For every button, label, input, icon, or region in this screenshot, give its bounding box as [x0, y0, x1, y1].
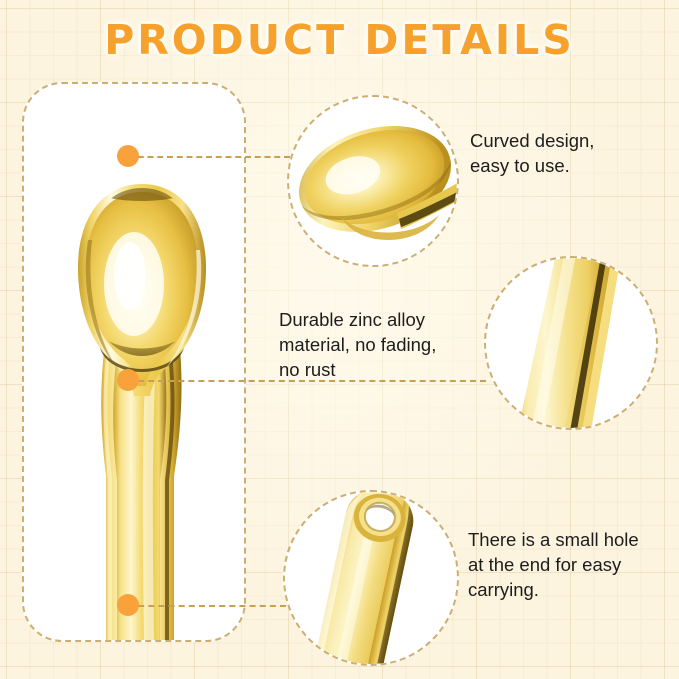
callout-text-durable-material: Durable zinc alloy material, no fading, … — [279, 307, 489, 382]
detail-inset-handle-clip — [486, 258, 656, 428]
spoon-bowl — [78, 174, 206, 396]
marker-dot-handle — [117, 369, 139, 391]
detail-inset-hole — [283, 490, 459, 666]
detail-inset-spoon-bowl — [287, 95, 459, 267]
product-spoon-illustration — [42, 180, 244, 640]
detail-inset-hole-clip — [285, 492, 457, 664]
spoon-handle-closeup-illustration — [486, 258, 656, 428]
callout-text-hanging-hole: There is a small hole at the end for eas… — [468, 527, 678, 602]
detail-inset-spoon-bowl-clip — [289, 97, 457, 265]
marker-dot-spoon-bowl — [117, 145, 139, 167]
spoon-bowl-closeup-illustration — [289, 97, 457, 265]
marker-dot-hole — [117, 594, 139, 616]
main-product-panel — [22, 82, 246, 642]
page-title: PRODUCT DETAILS — [0, 16, 679, 64]
spoon-hole-closeup-illustration — [285, 492, 457, 664]
product-details-infographic: PRODUCT DETAILS — [0, 0, 679, 679]
detail-inset-handle — [484, 256, 658, 430]
callout-text-curved-design: Curved design, easy to use. — [470, 128, 670, 178]
connector-line-curved-design — [128, 156, 290, 158]
connector-line-hanging-hole — [128, 605, 286, 607]
main-product-panel-clip — [24, 84, 244, 640]
